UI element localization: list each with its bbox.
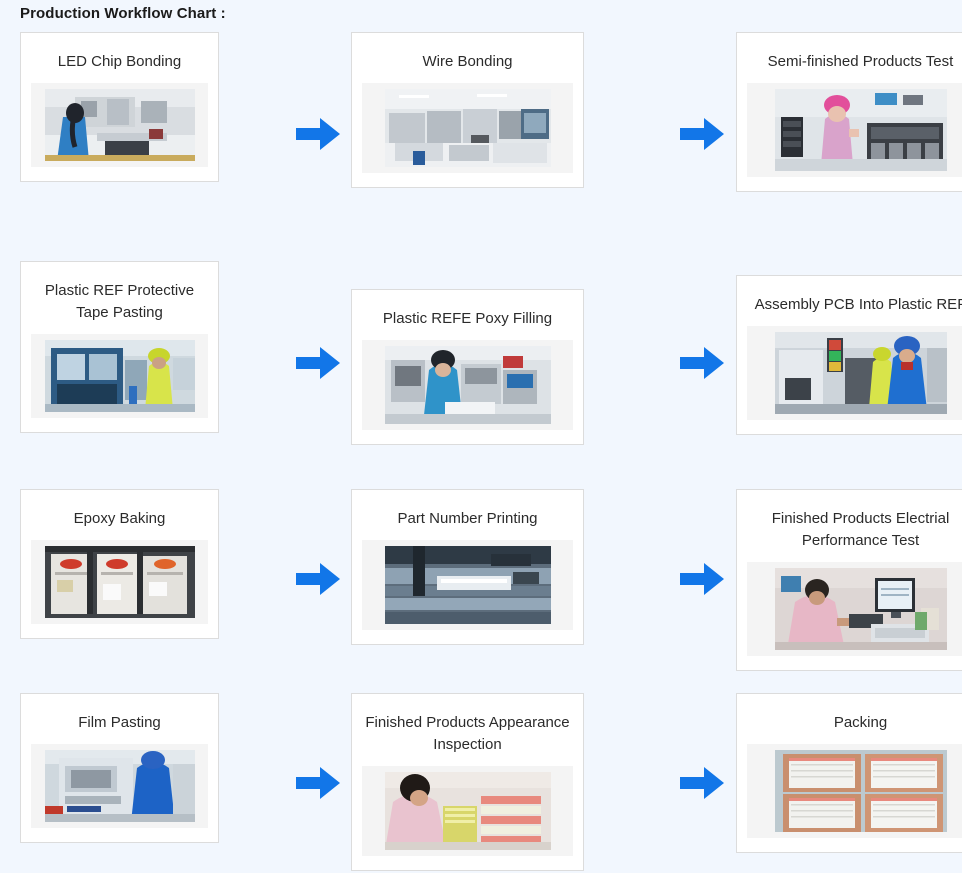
workflow-step-slot: LED Chip Bonding: [0, 32, 285, 182]
workflow-arrow-cell: [285, 261, 351, 465]
workflow-step-thumbnail: [362, 83, 573, 173]
workflow-step-thumbnail: [747, 326, 962, 420]
workflow-step-card[interactable]: Assembly PCB Into Plastic REF: [736, 275, 962, 435]
workflow-row: LED Chip Bonding: [0, 32, 962, 235]
finished-products-appearance-inspection-photo: [385, 772, 551, 850]
workflow-step-slot: Plastic REF Protective Tape Pasting: [0, 261, 285, 433]
workflow-step-slot: Wire Bonding: [351, 32, 668, 188]
workflow-step-thumbnail: [362, 540, 573, 630]
workflow-step-label: LED Chip Bonding: [31, 51, 208, 73]
workflow-step-card[interactable]: Plastic REFE Poxy Filling: [351, 289, 584, 445]
workflow-step-slot: Epoxy Baking: [0, 489, 285, 639]
workflow-row: Plastic REF Protective Tape Pasting: [0, 261, 962, 465]
workflow-step-card[interactable]: LED Chip Bonding: [20, 32, 219, 182]
workflow-arrow-cell: [668, 32, 736, 235]
arrow-right-icon: [678, 344, 726, 382]
workflow-step-card[interactable]: Finished Products Electrial Performance …: [736, 489, 962, 671]
workflow-step-slot: Assembly PCB Into Plastic REF: [736, 261, 962, 435]
workflow-step-card[interactable]: Plastic REF Protective Tape Pasting: [20, 261, 219, 433]
workflow-step-label: Plastic REF Protective Tape Pasting: [31, 280, 208, 324]
workflow-step-card[interactable]: Semi-finished Products Test: [736, 32, 962, 192]
workflow-step-card[interactable]: Part Number Printing: [351, 489, 584, 645]
workflow-arrow-cell: [285, 32, 351, 235]
workflow-step-slot: Semi-finished Products Test: [736, 32, 962, 192]
workflow-step-slot: Finished Products Electrial Performance …: [736, 489, 962, 671]
workflow-step-card[interactable]: Epoxy Baking: [20, 489, 219, 639]
workflow-step-label: Epoxy Baking: [31, 508, 208, 530]
workflow-arrow-cell: [285, 489, 351, 669]
workflow-arrow-cell: [668, 693, 736, 873]
assembly-pcb-into-plastic-ref-photo: [775, 332, 947, 414]
semi-finished-products-test-photo: [775, 89, 947, 171]
arrow-right-icon: [294, 115, 342, 153]
workflow-step-thumbnail: [31, 540, 208, 624]
arrow-right-icon: [294, 344, 342, 382]
page-title: Production Workflow Chart :: [20, 5, 226, 22]
workflow-step-thumbnail: [31, 334, 208, 418]
workflow-step-label: Wire Bonding: [362, 51, 573, 73]
workflow-step-label: Packing: [747, 712, 962, 734]
finished-products-electrial-performance-test-photo: [775, 568, 947, 650]
plastic-refe-poxy-filling-photo: [385, 346, 551, 424]
workflow-step-label: Finished Products Electrial Performance …: [747, 508, 962, 552]
led-chip-bonding-photo: [45, 89, 195, 161]
workflow-step-label: Film Pasting: [31, 712, 208, 734]
workflow-step-label: Semi-finished Products Test: [747, 51, 962, 73]
workflow-step-label: Part Number Printing: [362, 508, 573, 530]
packing-photo: [775, 750, 947, 832]
workflow-step-thumbnail: [362, 340, 573, 430]
workflow-step-thumbnail: [747, 562, 962, 656]
arrow-right-icon: [294, 764, 342, 802]
workflow-step-slot: Finished Products Appearance Inspection: [351, 693, 668, 871]
workflow-step-thumbnail: [31, 744, 208, 828]
workflow-step-label: Finished Products Appearance Inspection: [362, 712, 573, 756]
arrow-right-icon: [678, 764, 726, 802]
workflow-step-thumbnail: [362, 766, 573, 856]
arrow-right-icon: [294, 560, 342, 598]
workflow-step-thumbnail: [747, 83, 962, 177]
workflow-grid: LED Chip Bonding: [0, 32, 962, 873]
workflow-step-label: Plastic REFE Poxy Filling: [362, 308, 573, 330]
film-pasting-photo: [45, 750, 195, 822]
workflow-step-thumbnail: [31, 83, 208, 167]
part-number-printing-photo: [385, 546, 551, 624]
epoxy-baking-photo: [45, 546, 195, 618]
workflow-step-slot: Film Pasting: [0, 693, 285, 843]
workflow-step-card[interactable]: Film Pasting: [20, 693, 219, 843]
workflow-step-card[interactable]: Packing: [736, 693, 962, 853]
workflow-step-card[interactable]: Finished Products Appearance Inspection: [351, 693, 584, 871]
workflow-step-label: Assembly PCB Into Plastic REF: [747, 294, 962, 316]
workflow-step-slot: Packing: [736, 693, 962, 853]
workflow-step-card[interactable]: Wire Bonding: [351, 32, 584, 188]
workflow-step-slot: Part Number Printing: [351, 489, 668, 645]
workflow-arrow-cell: [668, 489, 736, 669]
workflow-row: Film Pasting: [0, 693, 962, 873]
workflow-row: Epoxy Baking: [0, 489, 962, 669]
plastic-ref-protective-tape-pasting-photo: [45, 340, 195, 412]
wire-bonding-photo: [385, 89, 551, 167]
arrow-right-icon: [678, 115, 726, 153]
arrow-right-icon: [678, 560, 726, 598]
workflow-arrow-cell: [668, 261, 736, 465]
workflow-step-slot: Plastic REFE Poxy Filling: [351, 261, 668, 445]
workflow-arrow-cell: [285, 693, 351, 873]
